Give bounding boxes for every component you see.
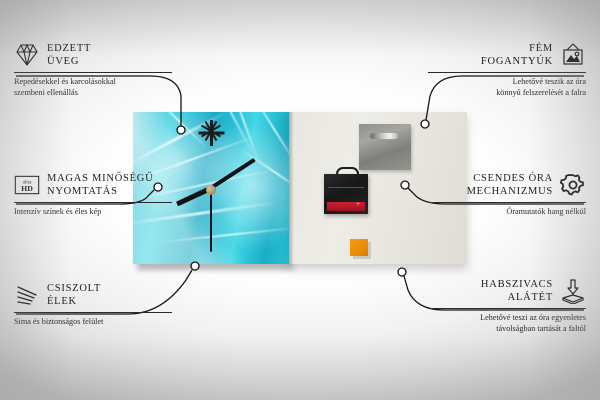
callout-edzett-uveg: EDZETT ÜVEG Repedésekkel és karcolásokka… bbox=[14, 42, 172, 98]
callout-description: Lehetővé teszik az óra könnyű felszerelé… bbox=[428, 76, 586, 98]
connector-endpoint-habszivacs bbox=[398, 268, 406, 276]
polished-edges-icon bbox=[14, 282, 40, 308]
mechanism-seam bbox=[328, 187, 364, 188]
quartz-clock-mechanism: + bbox=[324, 172, 368, 214]
infographic-canvas: + bbox=[0, 0, 600, 400]
callout-description: Lehetővé teszi az óra egyenletes távolsá… bbox=[428, 312, 586, 334]
callout-header: HABSZIVACS ALÁTÉT bbox=[428, 278, 586, 304]
callout-divider bbox=[14, 202, 172, 203]
callout-header: ultra HD MAGAS MINŐSÉGŰ NYOMTATÁS bbox=[14, 172, 172, 198]
callout-csiszolt-elek: CSISZOLT ÉLEK Sima és biztonságos felüle… bbox=[14, 282, 172, 327]
callout-header: FÉM FOGANTYÚK bbox=[428, 42, 586, 68]
callout-header: EDZETT ÜVEG bbox=[14, 42, 172, 68]
callout-description: Óramutatók hang nélkül bbox=[428, 206, 586, 217]
callout-title: MAGAS MINŐSÉGŰ NYOMTATÁS bbox=[47, 172, 153, 198]
clock-tick-9 bbox=[199, 132, 212, 135]
callout-divider bbox=[14, 72, 172, 73]
hanger-slot bbox=[370, 133, 398, 139]
callout-magas-minosegu-nyomtatas: ultra HD MAGAS MINŐSÉGŰ NYOMTATÁS Intenz… bbox=[14, 172, 172, 217]
callout-header: CSENDES ÓRA MECHANIZMUS bbox=[428, 172, 586, 198]
clock-center-cap bbox=[206, 185, 216, 195]
callout-description: Repedésekkel és karcolásokkal szembeni e… bbox=[14, 76, 172, 98]
metal-hanger-plate bbox=[359, 124, 411, 170]
product-scene: + bbox=[133, 112, 467, 268]
callout-divider bbox=[14, 312, 172, 313]
callout-description: Intenzív színek és éles kép bbox=[14, 206, 172, 217]
gear-icon bbox=[560, 172, 586, 198]
clock-tick-6 bbox=[210, 133, 213, 146]
mechanism-body: + bbox=[324, 174, 368, 214]
battery-compartment: + bbox=[327, 202, 365, 211]
second-hand bbox=[210, 188, 212, 252]
callout-habszivacs-alatet: HABSZIVACS ALÁTÉT Lehetővé teszi az óra … bbox=[428, 278, 586, 334]
picture-frame-hanger-icon bbox=[560, 42, 586, 68]
foam-spacer-pad bbox=[350, 239, 368, 256]
callout-title: EDZETT ÜVEG bbox=[47, 42, 91, 68]
callout-title: CSISZOLT ÉLEK bbox=[47, 282, 101, 308]
callout-divider bbox=[428, 202, 586, 203]
callout-title: HABSZIVACS ALÁTÉT bbox=[481, 278, 553, 304]
battery-plus-icon: + bbox=[355, 201, 361, 207]
callout-title: FÉM FOGANTYÚK bbox=[481, 42, 553, 68]
diamond-icon bbox=[14, 42, 40, 68]
callout-title: CSENDES ÓRA MECHANIZMUS bbox=[467, 172, 553, 198]
callout-divider bbox=[428, 72, 586, 73]
callout-divider bbox=[428, 308, 586, 309]
ultra-hd-badge-icon: ultra HD bbox=[14, 172, 40, 198]
foam-pad-arrow-icon bbox=[560, 278, 586, 304]
callout-fem-fogantyuk: FÉM FOGANTYÚK Lehetővé teszik az óra kön… bbox=[428, 42, 586, 98]
callout-csendes-ora-mechanizmus: CSENDES ÓRA MECHANIZMUS Óramutatók hang … bbox=[428, 172, 586, 217]
callout-description: Sima és biztonságos felület bbox=[14, 316, 172, 327]
callout-header: CSISZOLT ÉLEK bbox=[14, 282, 172, 308]
svg-text:HD: HD bbox=[21, 184, 33, 193]
